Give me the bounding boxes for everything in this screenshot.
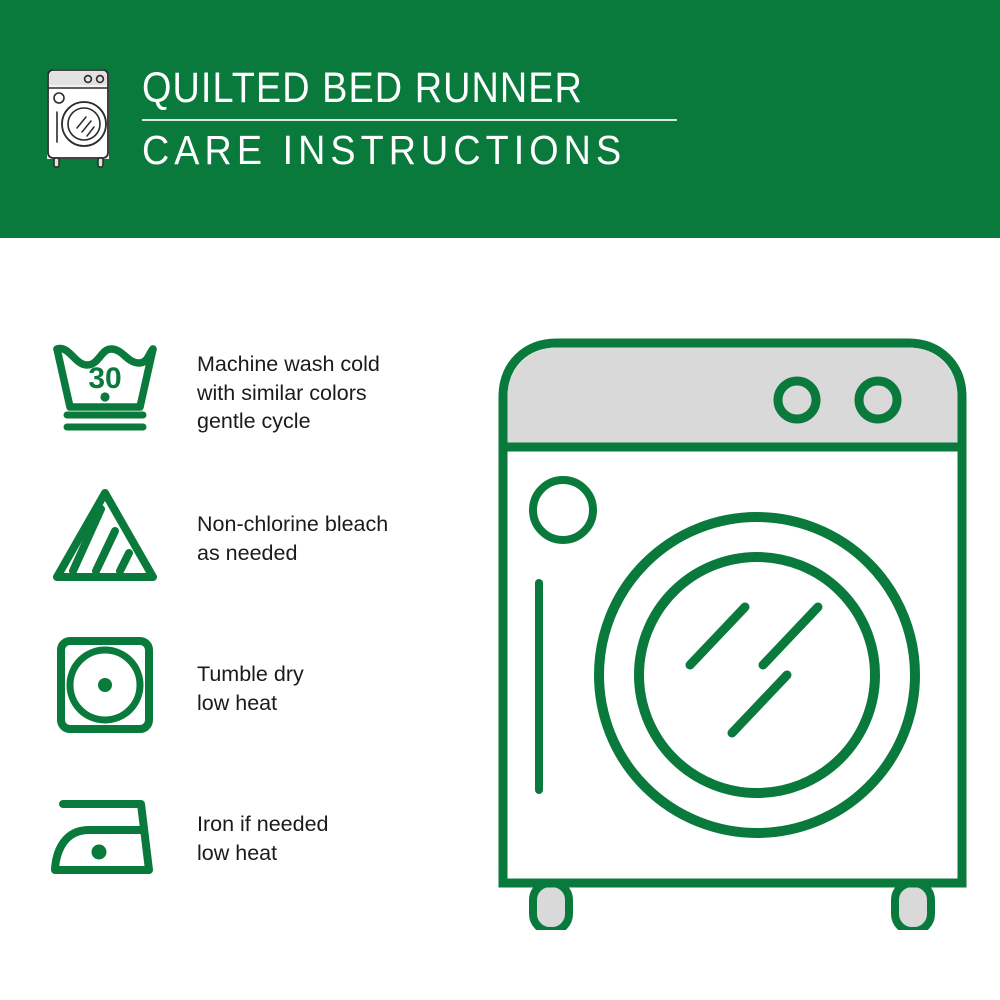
title-divider	[142, 119, 677, 121]
washing-machine-icon	[44, 66, 116, 172]
wash-temperature-value: 30	[88, 362, 121, 395]
leg-left	[533, 883, 569, 930]
page-title: QUILTED BED RUNNER	[142, 67, 613, 110]
list-item-label: Iron if needed low heat	[197, 780, 329, 867]
control-panel	[508, 348, 958, 448]
leg-right	[895, 883, 931, 930]
iron-low-heat-icon	[46, 780, 164, 890]
list-item-label: Non-chlorine bleach as needed	[197, 480, 388, 567]
front-load-washing-machine-illustration	[495, 335, 970, 930]
list-item: Iron if needed low heat	[46, 780, 446, 930]
list-item: Tumble dry low heat	[46, 630, 446, 780]
care-instructions-list: 30 Machine wash cold with similar colors…	[46, 330, 446, 930]
page-header: QUILTED BED RUNNER CARE INSTRUCTIONS	[0, 0, 1000, 238]
bleach-triangle-non-chlorine-icon	[46, 480, 164, 590]
list-item: Non-chlorine bleach as needed	[46, 480, 446, 630]
list-item-label: Tumble dry low heat	[197, 630, 304, 717]
tumble-dry-low-heat-icon	[46, 630, 164, 740]
list-item-label: Machine wash cold with similar colors ge…	[197, 330, 380, 436]
wash-tub-30-gentle-icon: 30	[46, 330, 164, 440]
header-text-block: QUILTED BED RUNNER CARE INSTRUCTIONS	[142, 67, 677, 171]
list-item: 30 Machine wash cold with similar colors…	[46, 330, 446, 480]
page-subtitle: CARE INSTRUCTIONS	[142, 130, 634, 171]
